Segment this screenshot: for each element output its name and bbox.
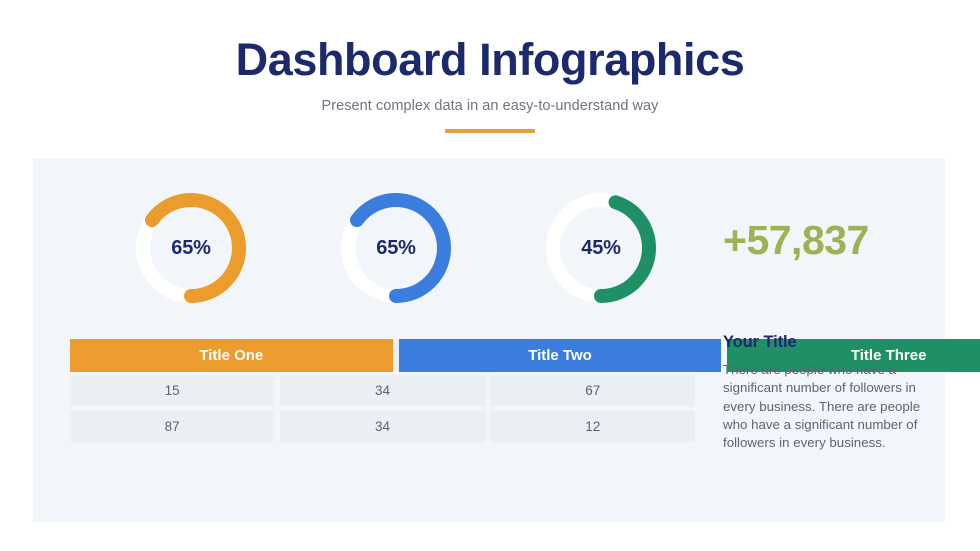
side-text-body: There are people who have a significant … <box>723 361 923 453</box>
dashboard-panel: 65% 65% 45% +57,837 Title One Title Two … <box>33 158 945 522</box>
page-subtitle: Present complex data in an easy-to-under… <box>0 98 980 114</box>
page-header: Dashboard Infographics Present complex d… <box>0 0 980 158</box>
donut-chart-two-value: 65% <box>338 190 454 306</box>
donut-chart-row: 65% 65% 45% +57,837 <box>33 158 945 338</box>
table-header-cell-two: Title Two <box>399 339 722 372</box>
title-divider <box>445 129 535 133</box>
side-text-block: Your Title There are people who have a s… <box>723 333 923 453</box>
donut-chart-one-value: 65% <box>133 190 249 306</box>
table-header-cell-one: Title One <box>70 339 393 372</box>
donut-chart-three: 45% <box>543 190 659 306</box>
donut-chart-one: 65% <box>133 190 249 306</box>
donut-chart-two: 65% <box>338 190 454 306</box>
kpi-big-number: +57,837 <box>723 220 943 261</box>
data-table: Title One Title Two Title Three 12 23 20… <box>70 339 695 447</box>
donut-chart-three-value: 45% <box>543 190 659 306</box>
page-title: Dashboard Infographics <box>0 36 980 83</box>
side-text-title: Your Title <box>723 333 923 352</box>
